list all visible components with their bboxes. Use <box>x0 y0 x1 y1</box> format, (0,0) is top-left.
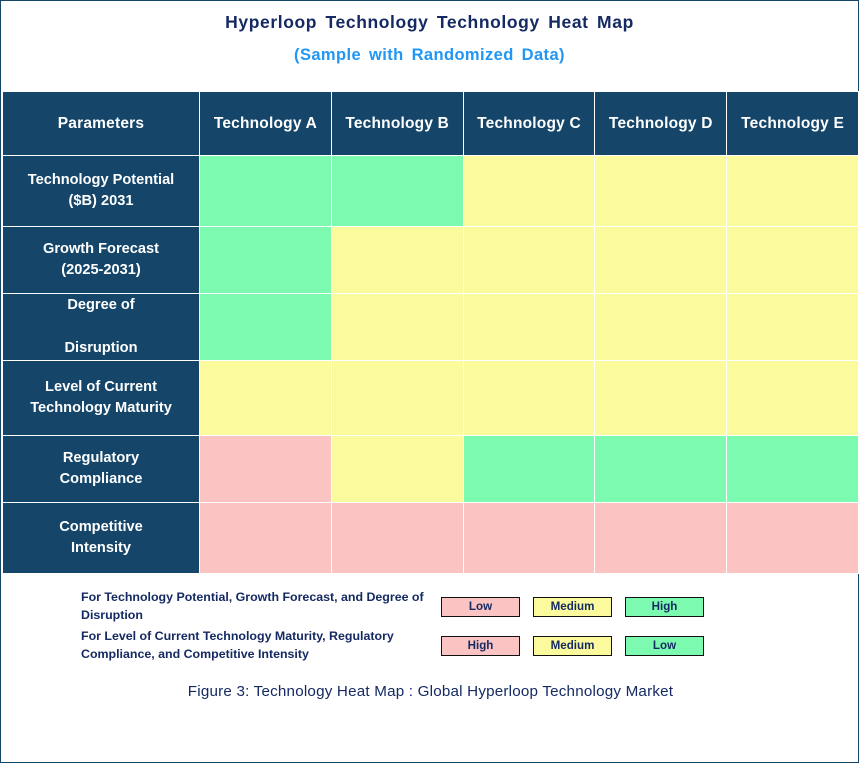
table-row: Degree of Disruption <box>3 294 859 361</box>
heatmap-cell-r1c4[interactable] <box>595 156 727 227</box>
row-label-line-1: Level of Current <box>45 379 157 395</box>
table-row: Growth Forecast (2025-2031) <box>3 227 859 294</box>
row-header-technology-potential: Technology Potential ($B) 2031 <box>3 156 200 227</box>
row-label-line-1: Degree of <box>67 297 134 313</box>
row-label-line-1: Competitive <box>59 519 143 535</box>
heatmap-cell-r1c5[interactable] <box>727 156 859 227</box>
page-subtitle: (Sample with Randomized Data) <box>1 34 858 65</box>
legend-chip-low[interactable]: Low <box>441 597 520 617</box>
heatmap-cell-r4c1[interactable] <box>200 361 332 436</box>
heatmap-cell-r4c3[interactable] <box>463 361 595 436</box>
heatmap-cell-r3c4[interactable] <box>595 294 727 361</box>
column-header-technology-a: Technology A <box>200 92 332 156</box>
heatmap-cell-r1c1[interactable] <box>200 156 332 227</box>
row-label-line-2: Disruption <box>65 340 138 356</box>
row-header-degree-of-disruption: Degree of Disruption <box>3 294 200 361</box>
heatmap-cell-r2c5[interactable] <box>727 227 859 294</box>
heatmap-cell-r5c2[interactable] <box>331 436 463 503</box>
legend-chips-2: High Medium Low <box>441 636 714 656</box>
heatmap-cell-r5c1[interactable] <box>200 436 332 503</box>
heatmap-cell-r6c4[interactable] <box>595 503 727 574</box>
row-header-technology-maturity: Level of Current Technology Maturity <box>3 361 200 436</box>
column-header-parameters: Parameters <box>3 92 200 156</box>
legend-chip-low-inverse[interactable]: Low <box>625 636 704 656</box>
legend-row-2: For Level of Current Technology Maturity… <box>1 626 859 665</box>
heatmap-cell-r6c5[interactable] <box>727 503 859 574</box>
row-label-line-2: Intensity <box>71 540 131 556</box>
legend: For Technology Potential, Growth Forecas… <box>1 587 859 665</box>
table-row: Level of Current Technology Maturity <box>3 361 859 436</box>
row-label-line-2: Compliance <box>60 471 143 487</box>
heatmap-cell-r2c1[interactable] <box>200 227 332 294</box>
figure-caption: Figure 3: Technology Heat Map : Global H… <box>1 683 859 700</box>
heatmap-cell-r3c5[interactable] <box>727 294 859 361</box>
row-label-line-2: ($B) 2031 <box>69 193 134 209</box>
heatmap-container: Parameters Technology A Technology B Tec… <box>2 91 859 574</box>
figure-frame: Hyperloop Technology Technology Heat Map… <box>0 0 859 763</box>
row-header-growth-forecast: Growth Forecast (2025-2031) <box>3 227 200 294</box>
heatmap-cell-r4c4[interactable] <box>595 361 727 436</box>
legend-chip-medium[interactable]: Medium <box>533 597 612 617</box>
row-label-line-1: Growth Forecast <box>43 241 159 257</box>
heatmap-cell-r5c5[interactable] <box>727 436 859 503</box>
legend-row-1: For Technology Potential, Growth Forecas… <box>1 587 859 626</box>
page-title: Hyperloop Technology Technology Heat Map <box>1 12 858 34</box>
legend-chip-high[interactable]: High <box>625 597 704 617</box>
column-header-technology-d: Technology D <box>595 92 727 156</box>
heatmap-cell-r1c2[interactable] <box>331 156 463 227</box>
heatmap-cell-r5c3[interactable] <box>463 436 595 503</box>
legend-description-1: For Technology Potential, Growth Forecas… <box>81 589 441 625</box>
row-label-line-1: Technology Potential <box>28 172 175 188</box>
column-header-technology-c: Technology C <box>463 92 595 156</box>
heatmap-cell-r6c3[interactable] <box>463 503 595 574</box>
heatmap-cell-r6c2[interactable] <box>331 503 463 574</box>
table-row: Competitive Intensity <box>3 503 859 574</box>
legend-chips-1: Low Medium High <box>441 597 714 617</box>
title-block: Hyperloop Technology Technology Heat Map… <box>1 1 858 65</box>
heatmap-cell-r2c4[interactable] <box>595 227 727 294</box>
heatmap-cell-r2c2[interactable] <box>331 227 463 294</box>
heatmap-cell-r6c1[interactable] <box>200 503 332 574</box>
heatmap-cell-r2c3[interactable] <box>463 227 595 294</box>
heatmap-table: Parameters Technology A Technology B Tec… <box>2 91 859 574</box>
row-label-line-2: Technology Maturity <box>30 400 172 416</box>
heatmap-cell-r4c5[interactable] <box>727 361 859 436</box>
row-header-regulatory-compliance: Regulatory Compliance <box>3 436 200 503</box>
heatmap-cell-r5c4[interactable] <box>595 436 727 503</box>
table-row: Technology Potential ($B) 2031 <box>3 156 859 227</box>
legend-chip-medium-inverse[interactable]: Medium <box>533 636 612 656</box>
legend-description-2: For Level of Current Technology Maturity… <box>81 628 441 664</box>
column-header-technology-b: Technology B <box>331 92 463 156</box>
heatmap-cell-r1c3[interactable] <box>463 156 595 227</box>
row-label-line-2: (2025-2031) <box>61 262 141 278</box>
heatmap-body: Technology Potential ($B) 2031 Growth Fo… <box>3 156 859 574</box>
heatmap-cell-r4c2[interactable] <box>331 361 463 436</box>
heatmap-cell-r3c2[interactable] <box>331 294 463 361</box>
legend-chip-high-inverse[interactable]: High <box>441 636 520 656</box>
header-row: Parameters Technology A Technology B Tec… <box>3 92 859 156</box>
column-header-technology-e: Technology E <box>727 92 859 156</box>
table-row: Regulatory Compliance <box>3 436 859 503</box>
heatmap-cell-r3c3[interactable] <box>463 294 595 361</box>
heatmap-header: Parameters Technology A Technology B Tec… <box>3 92 859 156</box>
row-label-line-1: Regulatory <box>63 450 139 466</box>
heatmap-cell-r3c1[interactable] <box>200 294 332 361</box>
row-header-competitive-intensity: Competitive Intensity <box>3 503 200 574</box>
